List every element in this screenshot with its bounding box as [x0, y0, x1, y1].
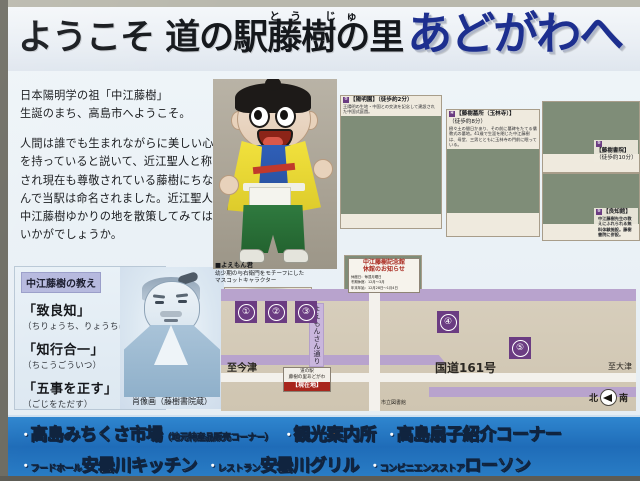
compass-rose: 北 南	[589, 389, 628, 406]
board-frame-bottom	[0, 476, 640, 481]
map-label-route-161: 国道161号	[435, 359, 496, 376]
facility-label: ローソン	[464, 451, 530, 476]
mascot-hand-right	[313, 159, 333, 179]
panel-desc: 樹々土の間日かあり、その前に墓碑をたてる儒教式の墓地。41歳で生涯を閉じた中江藤…	[447, 126, 539, 149]
facilities-row-1: ･ 高島みちくさ市場 （地元特産品販売コーナー） ･ 観光案内所 ･ 高島扇子紹…	[8, 417, 640, 448]
bullet-icon: ･	[209, 455, 217, 476]
board-frame-top	[0, 0, 640, 7]
portrait-mouth	[164, 319, 178, 322]
information-board: ようこそ 道の駅 とう じゅ 藤樹の里 あどがわへ 日本陽明学の祖「中江藤樹」 …	[0, 0, 640, 481]
map-marker-5[interactable]: ⑤	[509, 337, 531, 359]
facility-label: 高島みちくさ市場	[31, 420, 163, 445]
notice-line: 休館日：毎週月曜日	[351, 275, 417, 280]
bullet-icon: ･	[22, 424, 30, 445]
facility-prefix: コンビニエンスストア	[380, 461, 465, 474]
bullet-icon: ･	[371, 455, 379, 476]
nakae-toju-portrait: 肖像画（藤樹書院蔵）	[120, 267, 224, 409]
title-place: 藤樹の里	[267, 18, 403, 58]
title-welcome: ようこそ 道の駅	[18, 21, 267, 56]
board-header: ようこそ 道の駅 とう じゅ 藤樹の里 あどがわへ	[8, 7, 640, 73]
you-are-here-marker: 道の駅 藤樹の里あどがわ 【現在地】	[283, 367, 331, 392]
panel-title-text: 【藤樹墓所（玉林寺）】	[456, 111, 515, 117]
mascot-photo	[213, 79, 337, 269]
panel-subtitle: （徒歩約8分）	[447, 118, 539, 126]
facility-prefix: フードホール	[31, 461, 82, 474]
panel-number-badge: ②	[343, 97, 349, 103]
panel-toju-grave: ④【藤樹墓所（玉林寺）】 （徒歩約8分） 樹々土の間日かあり、その前に墓碑をたて…	[446, 109, 540, 237]
panel-desc: 王陽明の生地・中国との交流を記念して建設された中国式庭園。	[341, 104, 441, 116]
teachings-heading: 中江藤樹の教え	[21, 272, 101, 293]
facility-label: 安曇川グリル	[260, 451, 359, 476]
panel-photo-grave	[447, 149, 539, 213]
intro-body: 人間は誰でも生まれながらに美しい心を持っていると説いて、近江聖人と称され現在も尊…	[20, 135, 216, 244]
closure-notice-sign: 中江藤樹記念館 休館のお知らせ 休館日：毎週月曜日 冬期休館：12月～3月 年末…	[348, 258, 420, 293]
panel-number-badge: ⑤	[596, 209, 602, 215]
bullet-icon: ･	[285, 424, 293, 445]
mascot-tongue	[263, 137, 283, 145]
compass-dial-icon	[600, 389, 617, 406]
mascot-desc-1: 幼少期の与右衛門をモチーフにした	[215, 271, 304, 277]
panel-ryochikan: ⑤【良知館】 中江藤樹先生の教えにふれられる無料体験施設。藤樹書院に併設。	[542, 173, 640, 241]
portrait-eye-left	[155, 301, 164, 304]
title-name: あどがわへ	[407, 13, 622, 56]
panel-desc: 中江藤樹先生の教えにふれられる無料体験施設。藤樹書院に併設。	[596, 216, 636, 239]
portrait-caption: 肖像画（藤樹書院蔵）	[120, 396, 224, 407]
map-purple-road-diagonal	[343, 355, 447, 365]
facilities-row-2: ･ フードホール 安曇川キッチン ･ レストラン 安曇川グリル ･ コンビニエン…	[8, 448, 640, 479]
notice-title-2: 休館のお知らせ	[351, 267, 417, 274]
intro-text: 日本陽明学の祖「中江藤樹」 生誕のまち、高島市へようこそ。 人間は誰でも生まれな…	[20, 87, 216, 244]
board-body: 日本陽明学の祖「中江藤樹」 生誕のまち、高島市へようこそ。 人間は誰でも生まれな…	[8, 71, 640, 415]
panel-photo-gate	[341, 116, 441, 166]
facility-item[interactable]: ･ 高島扇子紹介コーナー	[388, 420, 562, 445]
panel-title-text: 【藤樹書院】	[596, 148, 630, 154]
facility-prefix: レストラン	[218, 461, 261, 474]
title-ruby: とう じゅ	[269, 8, 405, 24]
panel-title: ④【藤樹墓所（玉林寺）】	[447, 110, 539, 118]
panel-subtitle: （徒歩約10分）	[596, 155, 636, 162]
map-label-library: 市立図書館	[381, 399, 406, 406]
panel-number-badge: ⑤	[596, 141, 602, 147]
facility-item[interactable]: ･ フードホール 安曇川キッチン	[22, 451, 197, 476]
map-label-to-imazu: 至今津	[227, 359, 257, 374]
map-marker-1[interactable]: ①	[235, 301, 257, 323]
panel-title: ②【陽明園】（徒歩約2分）	[341, 96, 441, 104]
you-are-here-line-2: 藤樹の里あどがわ	[284, 375, 330, 381]
mascot-name: ■よえもん君	[215, 261, 253, 269]
panel-title: ⑤【藤樹書院】 （徒歩約10分）	[594, 140, 638, 162]
panel-photo-garden	[341, 166, 441, 214]
compass-south-label: 南	[619, 391, 628, 404]
panel-number-badge: ④	[449, 111, 455, 117]
panel-toju-shoin: ⑤【藤樹書院】 （徒歩約10分）	[542, 101, 640, 173]
panel-title-text: 【陽明園】（徒歩約2分）	[350, 97, 413, 103]
area-map: よえもんさん通り ① ② ③ ④ ⑤ 道の駅 藤樹の里あどがわ 【現在地】 至今…	[221, 289, 636, 411]
you-are-here-highlight: 【現在地】	[284, 382, 330, 391]
mascot-pupil-left	[254, 110, 262, 120]
facility-label: 観光案内所	[294, 420, 377, 445]
panel-title-text: 【良知館】	[603, 209, 631, 215]
title-place-with-ruby: とう じゅ 藤樹の里	[267, 21, 403, 56]
mascot-pupil-right	[280, 110, 288, 120]
map-purple-road-top	[221, 289, 636, 301]
panel-yomeien: ②【陽明園】（徒歩約2分） 王陽明の生地・中国との交流を記念して建設された中国式…	[340, 95, 442, 229]
facility-item[interactable]: ･ レストラン 安曇川グリル	[209, 451, 359, 476]
facilities-banner: ･ 高島みちくさ市場 （地元特産品販売コーナー） ･ 観光案内所 ･ 高島扇子紹…	[8, 415, 640, 479]
compass-north-label: 北	[589, 391, 598, 404]
mascot-desc-2: マスコットキャラクター	[215, 278, 276, 284]
facility-item[interactable]: ･ 観光案内所	[285, 420, 376, 445]
bullet-icon: ･	[388, 424, 396, 445]
intro-line-2: 生誕のまち、高島市へようこそ。	[20, 105, 216, 123]
panel-title: ⑤【良知館】 中江藤樹先生の教えにふれられる無料体験施設。藤樹書院に併設。	[594, 208, 638, 239]
facility-item[interactable]: ･ 高島みちくさ市場 （地元特産品販売コーナー）	[22, 420, 273, 445]
portrait-beard	[160, 311, 182, 317]
map-label-to-otsu: 至大津	[608, 361, 632, 372]
facility-label: 安曇川キッチン	[82, 451, 198, 476]
facility-label: 高島扇子紹介コーナー	[397, 420, 562, 445]
notice-line: 年末年始：12月28日～1月4日	[351, 286, 417, 291]
mascot-pants	[241, 205, 305, 253]
mascot-hair	[235, 83, 311, 113]
mascot-hand-left	[219, 175, 239, 195]
notice-line: 冬期休館：12月～3月	[351, 280, 417, 285]
facility-note: （地元特産品販売コーナー）	[163, 430, 274, 443]
map-road-vertical	[369, 289, 380, 411]
board-title: ようこそ 道の駅 とう じゅ 藤樹の里 あどがわへ	[18, 13, 622, 56]
map-marker-4[interactable]: ④	[437, 311, 459, 333]
portrait-eye-right	[178, 300, 187, 303]
board-frame-left	[0, 0, 8, 481]
facility-item[interactable]: ･ コンビニエンスストア ローソン	[371, 451, 530, 476]
map-marker-3[interactable]: ③	[295, 301, 317, 323]
bullet-icon: ･	[22, 455, 30, 476]
intro-line-1: 日本陽明学の祖「中江藤樹」	[20, 87, 216, 105]
map-marker-2[interactable]: ②	[265, 301, 287, 323]
